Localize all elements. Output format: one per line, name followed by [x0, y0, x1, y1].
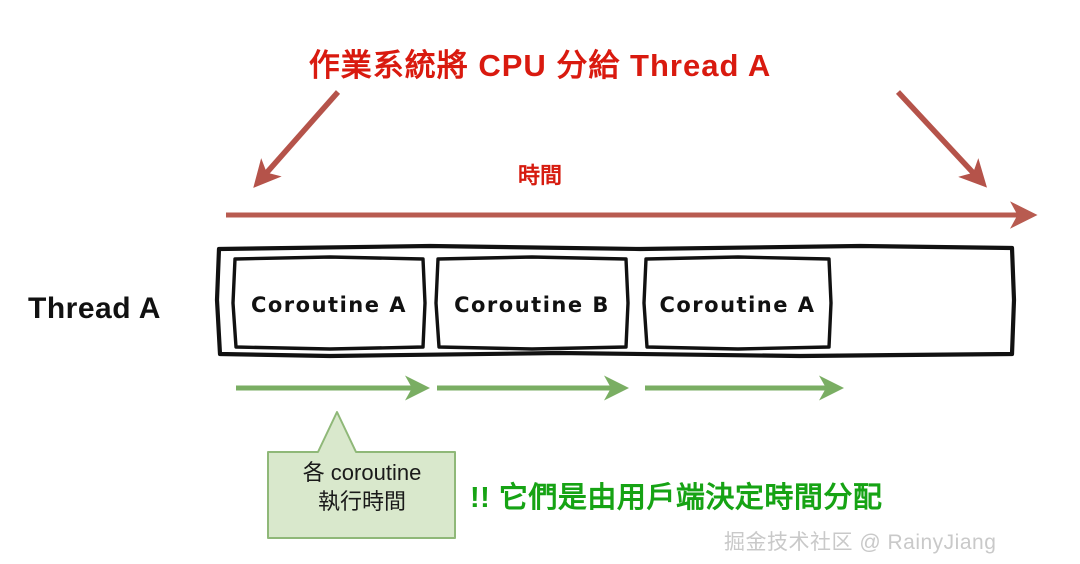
thread-label: Thread A — [28, 292, 161, 326]
coroutine-box-label-2: Coroutine B — [436, 293, 628, 317]
callout-text: 各 coroutine 執行時間 — [268, 458, 456, 516]
callout-line-1: 各 coroutine — [268, 458, 456, 487]
coroutine-box-label-1: Coroutine A — [233, 293, 425, 317]
diagram-title: 作業系統將 CPU 分給 Thread A — [0, 40, 1080, 85]
time-axis-label: 時間 — [0, 158, 1080, 190]
diagram-canvas: 作業系統將 CPU 分給 Thread A 時間 Thread A — [0, 0, 1080, 564]
watermark: 掘金技术社区 @ RainyJiang — [724, 526, 996, 556]
coroutine-box-label-3: Coroutine A — [644, 293, 831, 317]
callout-line-2: 執行時間 — [268, 487, 456, 516]
green-note-text: !! 它們是由用戶端決定時間分配 — [470, 474, 882, 516]
